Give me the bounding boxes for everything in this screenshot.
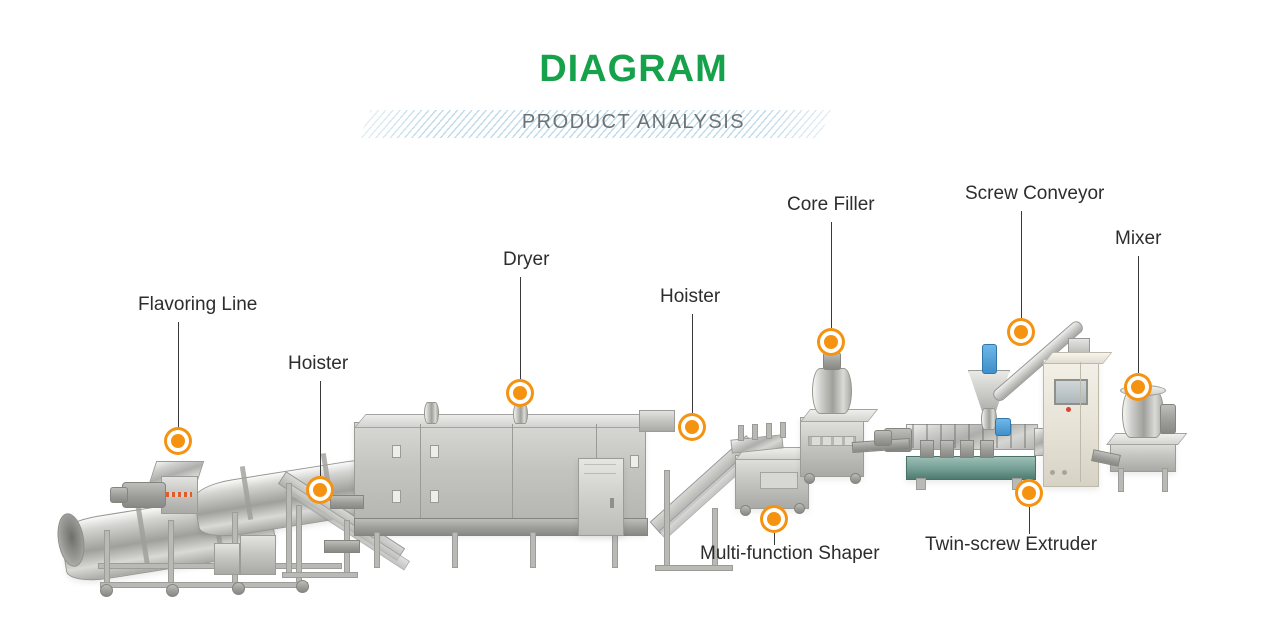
marker-core: [1022, 486, 1036, 500]
marker-mixer[interactable]: [1124, 373, 1152, 401]
extruder-cabinet-vent-2: [1062, 470, 1067, 475]
dryer-stack-2: [513, 404, 528, 424]
extruder-heater-3: [960, 440, 974, 458]
marker-core-filler[interactable]: [817, 328, 845, 356]
callout-label-hoister-2[interactable]: Hoister: [660, 286, 720, 308]
dryer-cabinet-handle: [610, 498, 614, 508]
marker-core: [513, 386, 527, 400]
leader-line-twin-screw-extruder: [1029, 507, 1030, 534]
extruder-cabinet-vent-1: [1050, 470, 1055, 475]
core-filler-panel: [808, 436, 856, 446]
callout-label-mixer[interactable]: Mixer: [1115, 228, 1161, 250]
flavoring-leg-1: [104, 530, 110, 588]
marker-core: [171, 434, 185, 448]
callout-label-screw-conveyor[interactable]: Screw Conveyor: [965, 183, 1104, 205]
leader-line-hoister-2: [692, 314, 693, 413]
dryer-handle-3: [430, 445, 439, 458]
leader-line-screw-conveyor: [1021, 211, 1022, 318]
flavoring-caster-1: [100, 584, 113, 597]
extruder-cabinet-top-face: [1043, 352, 1112, 364]
dryer-seam-2: [512, 424, 513, 530]
flavoring-side-cabinet: [240, 535, 276, 575]
leader-line-core-filler: [831, 222, 832, 328]
marker-hoister-1[interactable]: [306, 476, 334, 504]
dryer-cabinet-vents: [584, 464, 616, 478]
header: DIAGRAM PRODUCT ANALYSIS: [0, 0, 1267, 160]
extruder-blue-motor-top: [982, 344, 997, 374]
leader-line-mixer: [1138, 256, 1139, 373]
shaper-caster-2: [794, 503, 805, 514]
shaper-nozzle-4: [780, 422, 786, 438]
dryer-handle-4: [430, 490, 439, 503]
extruder-outfeed-motor: [874, 430, 892, 446]
mixer-leg-2: [1162, 468, 1168, 492]
marker-screw-conveyor[interactable]: [1007, 318, 1035, 346]
dryer-handle-5: [630, 455, 639, 468]
marker-core: [824, 335, 838, 349]
hoister2-base-rail: [655, 565, 733, 571]
callout-label-flavoring-line[interactable]: Flavoring Line: [138, 294, 257, 316]
mixer-drive-box: [1160, 404, 1176, 434]
dryer-top-face: [354, 414, 668, 428]
extruder-cabinet-door-seam: [1080, 362, 1081, 482]
leader-line-dryer: [520, 277, 521, 379]
leader-line-hoister-1: [320, 381, 321, 476]
dryer-leg-3: [530, 532, 536, 568]
extruder-cabinet-indicator-light: [1066, 407, 1071, 412]
dryer-outlet-belt-2: [324, 540, 360, 553]
marker-flavoring-line[interactable]: [164, 427, 192, 455]
callout-label-multi-function-shaper[interactable]: Multi-function Shaper: [700, 543, 880, 565]
flavoring-gearbox: [110, 487, 128, 503]
marker-core: [313, 483, 327, 497]
dryer-handle-2: [392, 490, 401, 503]
core-filler-tank: [812, 368, 852, 414]
diagram-canvas: DIAGRAM PRODUCT ANALYSIS: [0, 0, 1267, 640]
shaper-panel: [760, 472, 798, 489]
marker-core: [1014, 325, 1028, 339]
dryer-leg-2: [452, 532, 458, 568]
mixer-leg-1: [1118, 468, 1124, 492]
callout-label-core-filler[interactable]: Core Filler: [787, 194, 875, 216]
flavoring-side-cabinet-2: [214, 543, 240, 575]
dryer-leg-1: [374, 532, 380, 568]
extruder-foot-1: [916, 478, 926, 490]
extruder-cabinet-hmi-screen: [1054, 379, 1088, 405]
marker-core: [685, 420, 699, 434]
callout-label-hoister-1[interactable]: Hoister: [288, 353, 348, 375]
flavoring-caster-2: [166, 584, 179, 597]
callout-label-twin-screw-extruder[interactable]: Twin-screw Extruder: [925, 534, 1097, 556]
marker-hoister-2[interactable]: [678, 413, 706, 441]
dryer-stack-1: [424, 402, 439, 424]
marker-core: [1131, 380, 1145, 394]
flavoring-control-buttons: [166, 492, 192, 497]
hoister2-support-1: [664, 470, 670, 570]
marker-twin-screw-extruder[interactable]: [1015, 479, 1043, 507]
flavoring-leg-2: [168, 520, 174, 588]
flavoring-caster-4: [296, 580, 309, 593]
core-filler-caster-1: [804, 473, 815, 484]
flavoring-lower-rail: [100, 582, 308, 588]
core-filler-caster-2: [850, 473, 861, 484]
shaper-nozzle-1: [738, 425, 744, 441]
marker-dryer[interactable]: [506, 379, 534, 407]
shaper-nozzle-2: [752, 424, 758, 440]
dryer-leg-4: [612, 532, 618, 568]
dryer-handle-1: [392, 445, 401, 458]
dryer-seam-1: [420, 424, 421, 530]
extruder-heater-1: [920, 440, 934, 458]
hoister2-head-box: [639, 410, 675, 432]
extruder-base-frame: [906, 456, 1036, 480]
extruder-heater-2: [940, 440, 954, 458]
flavoring-motor: [122, 482, 166, 508]
marker-multi-function-shaper[interactable]: [760, 505, 788, 533]
page-subtitle: PRODUCT ANALYSIS: [0, 111, 1267, 134]
flavoring-caster-3: [232, 582, 245, 595]
shaper-nozzle-3: [766, 423, 772, 439]
marker-core: [767, 512, 781, 526]
callout-label-dryer[interactable]: Dryer: [503, 249, 549, 271]
leader-line-multi-function-shaper: [774, 533, 775, 545]
shaper-caster-1: [740, 505, 751, 516]
extruder-blue-motor-side: [995, 418, 1011, 436]
extruder-heater-4: [980, 440, 994, 458]
hoister1-support-1: [286, 483, 292, 575]
hoister1-base-rail: [282, 572, 358, 578]
leader-line-flavoring-line: [178, 322, 179, 428]
page-title: DIAGRAM: [0, 48, 1267, 91]
dryer-outlet-belt: [330, 495, 364, 509]
